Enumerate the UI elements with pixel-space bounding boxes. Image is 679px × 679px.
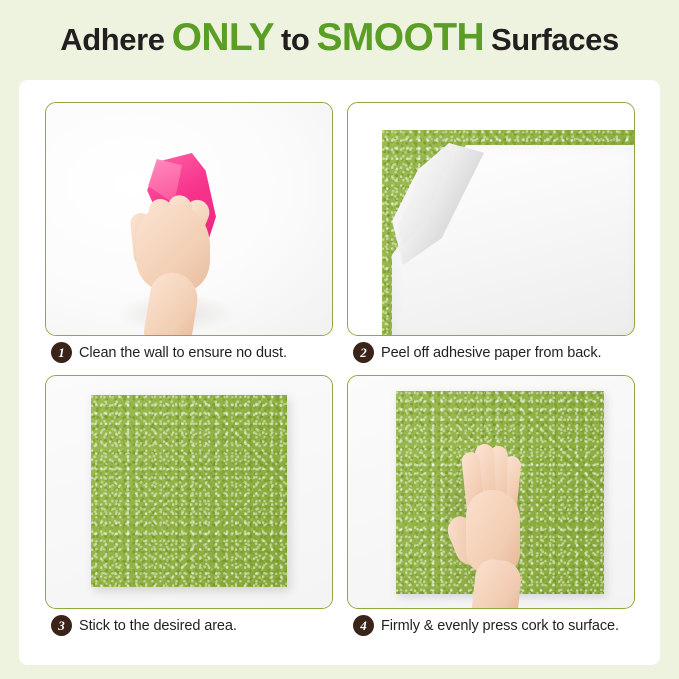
step-caption-text: Stick to the desired area.: [79, 618, 237, 634]
wiping-hand: [122, 191, 230, 336]
step-number-badge: 4: [353, 615, 374, 636]
step-1-caption: 1 Clean the wall to ensure no dust.: [51, 342, 287, 363]
step-caption-text: Firmly & evenly press cork to surface.: [381, 618, 619, 634]
title-segment-only: ONLY: [172, 16, 274, 59]
title-segment-surfaces: Surfaces: [491, 22, 619, 57]
step-number-badge: 1: [51, 342, 72, 363]
step-2-caption: 2 Peel off adhesive paper from back.: [353, 342, 601, 363]
step-caption-text: Peel off adhesive paper from back.: [381, 345, 601, 361]
step-2-image-frame: [347, 102, 635, 336]
title-segment-adhere: Adhere: [60, 22, 164, 57]
step-number-badge: 3: [51, 615, 72, 636]
steps-card: 1 Clean the wall to ensure no dust. 2 Pe…: [19, 80, 660, 665]
instruction-graphic: AdhereONLYtoSMOOTHSurfaces: [0, 0, 679, 679]
step-4-image-frame: [347, 375, 635, 609]
step-number-badge: 2: [353, 342, 374, 363]
step-1-image-frame: [45, 102, 333, 336]
step-1: 1 Clean the wall to ensure no dust.: [45, 102, 333, 374]
wrist: [471, 558, 523, 609]
step-3: 3 Stick to the desired area.: [45, 375, 333, 647]
step-3-caption: 3 Stick to the desired area.: [51, 615, 237, 636]
pressing-hand: [452, 438, 530, 609]
title-segment-smooth: SMOOTH: [316, 16, 484, 59]
page-title: AdhereONLYtoSMOOTHSurfaces: [0, 18, 679, 57]
step-4: 4 Firmly & evenly press cork to surface.: [347, 375, 635, 647]
steps-grid: 1 Clean the wall to ensure no dust. 2 Pe…: [45, 102, 635, 647]
cork-tile: [91, 395, 287, 587]
step-caption-text: Clean the wall to ensure no dust.: [79, 345, 287, 361]
step-3-image-frame: [45, 375, 333, 609]
title-segment-to: to: [281, 22, 309, 57]
step-4-caption: 4 Firmly & evenly press cork to surface.: [353, 615, 619, 636]
step-2: 2 Peel off adhesive paper from back.: [347, 102, 635, 374]
